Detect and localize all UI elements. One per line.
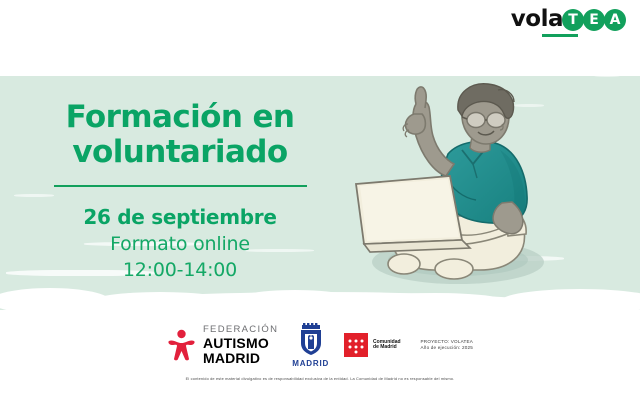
brand-letter-t-icon: T <box>562 9 584 31</box>
event-time: 12:00-14:00 <box>0 259 360 281</box>
illustration-person-with-laptop <box>330 80 570 295</box>
legal-disclaimer: El contenido de este material divulgativ… <box>0 376 640 381</box>
brand-letter-a-icon: A <box>604 9 626 31</box>
brand-logo[interactable]: vola T E A <box>511 8 626 37</box>
brand-logo-row: vola T E A <box>511 8 626 31</box>
poster-canvas: vola T E A Formación en voluntariado 26 … <box>0 0 640 400</box>
federacion-text: FEDERACIÓN AUTISMO MADRID <box>203 325 278 365</box>
event-date: 26 de septiembre <box>0 205 360 229</box>
madrid-label: MADRID <box>292 359 329 368</box>
brand-letter-e-icon: E <box>583 9 605 31</box>
comunidad-line-2: de Madrid <box>373 345 401 350</box>
federacion-line-1: FEDERACIÓN <box>203 325 278 335</box>
headline-line-1: Formación en <box>0 100 360 135</box>
logo-federacion-autismo-madrid[interactable]: FEDERACIÓN AUTISMO MADRID <box>167 325 278 365</box>
logo-comunidad-de-madrid[interactable]: Comunidad de Madrid <box>343 332 401 358</box>
partner-logos: FEDERACIÓN AUTISMO MADRID MADRID <box>0 320 640 370</box>
federacion-line-3: MADRID <box>203 351 278 365</box>
madrid-coat-of-arms-icon <box>296 323 326 357</box>
project-info: PROYECTO: VOLATEA Año de ejecución: 2025 <box>421 339 474 351</box>
headline-block: Formación en voluntariado 26 de septiemb… <box>0 100 360 281</box>
brand-wordmark: vola <box>511 8 563 31</box>
federacion-line-2: AUTISMO <box>203 336 278 350</box>
project-year: Año de ejecución: 2025 <box>421 345 474 351</box>
brand-underline <box>542 34 578 37</box>
headline-divider <box>54 185 307 187</box>
comunidad-flag-icon <box>343 332 369 358</box>
headline-line-2: voluntariado <box>0 135 360 170</box>
comunidad-text: Comunidad de Madrid <box>373 340 401 351</box>
federacion-person-icon <box>167 329 197 361</box>
event-format: Formato online <box>0 233 360 255</box>
logo-ayuntamiento-madrid[interactable]: MADRID <box>292 323 329 368</box>
